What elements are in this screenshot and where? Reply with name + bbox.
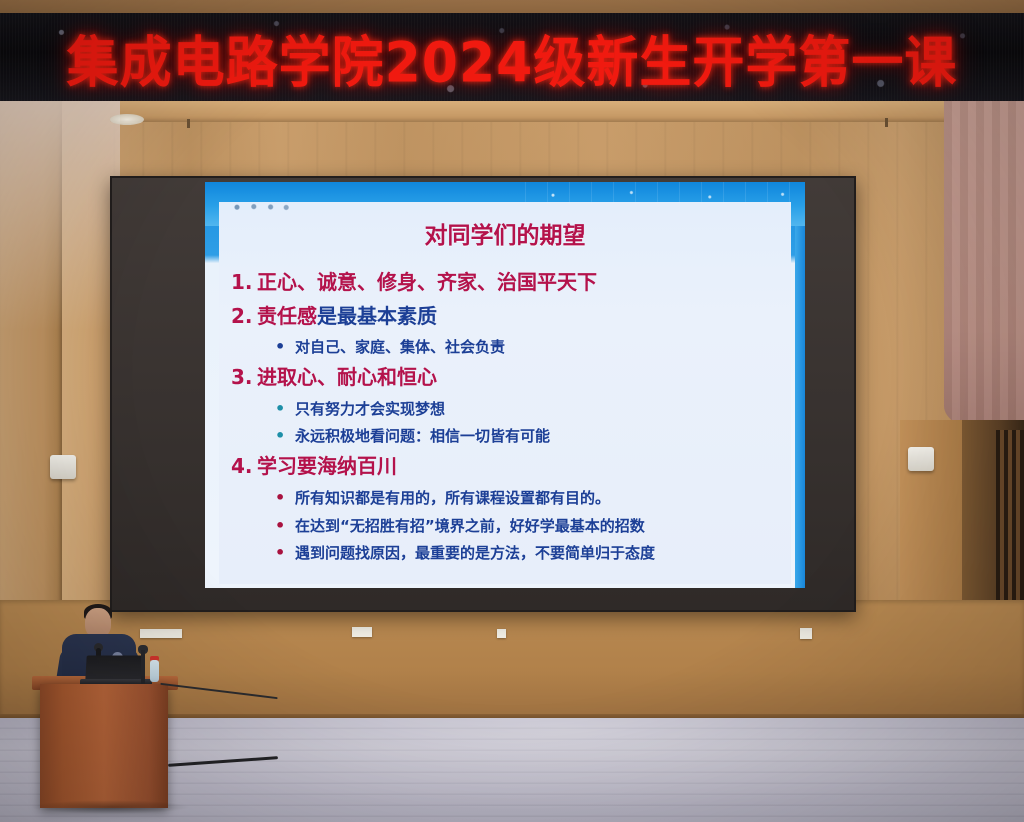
bullet-item-4: 4.学习要海纳百川 xyxy=(231,452,797,482)
bullet-dot-icon: • xyxy=(275,335,295,360)
podium: BIT xyxy=(40,684,168,808)
bullet-text: 是最基本素质 xyxy=(317,304,437,328)
bullet-number: 1. xyxy=(231,268,257,298)
slide-decorative-dots xyxy=(231,200,291,212)
projection-screen-frame: 对同学们的期望 1.正心、诚意、修身、齐家、治国平天下 2.责任感是最基本素质 … xyxy=(110,176,856,612)
wall-plate xyxy=(497,629,506,638)
sub-bullet-4-2: •在达到“无招胜有招”境界之前，好好学最基本的招数 xyxy=(231,514,797,539)
wall-speaker-box-left xyxy=(50,455,76,479)
bullet-number: 4. xyxy=(231,452,257,482)
wall-soffit xyxy=(0,100,1024,122)
bullet-text: 学习要海纳百川 xyxy=(257,454,397,478)
ceiling-fixture-stud xyxy=(187,119,190,128)
bullet-dot-icon: • xyxy=(275,397,295,422)
sub-bullet-text: 永远积极地看问题：相信一切皆有可能 xyxy=(295,427,550,445)
wall-plate xyxy=(352,627,372,637)
bullet-item-1: 1.正心、诚意、修身、齐家、治国平天下 xyxy=(231,268,797,298)
sub-bullet-3-2: •永远积极地看问题：相信一切皆有可能 xyxy=(231,424,797,449)
presentation-slide: 对同学们的期望 1.正心、诚意、修身、齐家、治国平天下 2.责任感是最基本素质 … xyxy=(205,182,805,588)
bullet-text: 正心、诚意、修身、齐家、治国平天下 xyxy=(257,270,597,294)
led-banner: 集成电路学院2024级新生开学第一课 xyxy=(0,13,1024,101)
bullet-dot-icon: • xyxy=(275,514,295,539)
bullet-text: 进取心、耐心和恒心 xyxy=(257,365,437,389)
sub-bullet-4-1: •所有知识都是有用的，所有课程设置都有目的。 xyxy=(231,486,797,511)
wall-plate xyxy=(800,628,812,639)
sub-bullet-2-1: •对自己、家庭、集体、社会负责 xyxy=(231,335,797,360)
desk-microphone-stand xyxy=(141,650,145,684)
slide-title: 对同学们的期望 xyxy=(205,216,805,250)
bullet-dot-icon: • xyxy=(275,424,295,449)
podium-shadow xyxy=(30,800,190,814)
side-curtain xyxy=(944,100,1024,430)
bullet-dot-icon: • xyxy=(275,541,295,566)
sub-bullet-text: 只有努力才会实现梦想 xyxy=(295,400,445,418)
ceiling-fixture-stud xyxy=(885,118,888,127)
sub-bullet-text: 遇到问题找原因，最重要的是方法，不要简单归于态度 xyxy=(295,544,655,562)
led-banner-text: 集成电路学院2024级新生开学第一课 xyxy=(67,17,958,97)
sub-bullet-text: 在达到“无招胜有招”境界之前，好好学最基本的招数 xyxy=(295,517,645,535)
sub-bullet-4-3: •遇到问题找原因，最重要的是方法，不要简单归于态度 xyxy=(231,541,797,566)
lecture-hall-photo: 集成电路学院2024级新生开学第一课 对同学们的期望 1.正心、诚意、修身、齐家… xyxy=(0,0,1024,822)
wall-plate xyxy=(140,629,182,638)
bullet-number: 2. xyxy=(231,302,257,332)
sub-bullet-text: 所有知识都是有用的，所有课程设置都有目的。 xyxy=(295,489,610,507)
water-bottle xyxy=(150,660,159,682)
laptop xyxy=(85,656,144,682)
bullet-number: 3. xyxy=(231,363,257,393)
ceiling-corner xyxy=(0,100,120,330)
bullet-dot-icon: • xyxy=(275,486,295,511)
sub-bullet-3-1: •只有努力才会实现梦想 xyxy=(231,397,797,422)
sub-bullet-text: 对自己、家庭、集体、社会负责 xyxy=(295,338,505,356)
ceiling-downlight xyxy=(110,114,144,125)
bullet-text-emphasis: 责任感 xyxy=(257,304,317,328)
bullet-item-2: 2.责任感是最基本素质 xyxy=(231,302,797,332)
top-wood-strip xyxy=(0,0,1024,14)
slide-bullet-list: 1.正心、诚意、修身、齐家、治国平天下 2.责任感是最基本素质 •对自己、家庭、… xyxy=(231,268,797,569)
wall-speaker-box-right xyxy=(908,447,934,471)
bullet-item-3: 3.进取心、耐心和恒心 xyxy=(231,363,797,393)
